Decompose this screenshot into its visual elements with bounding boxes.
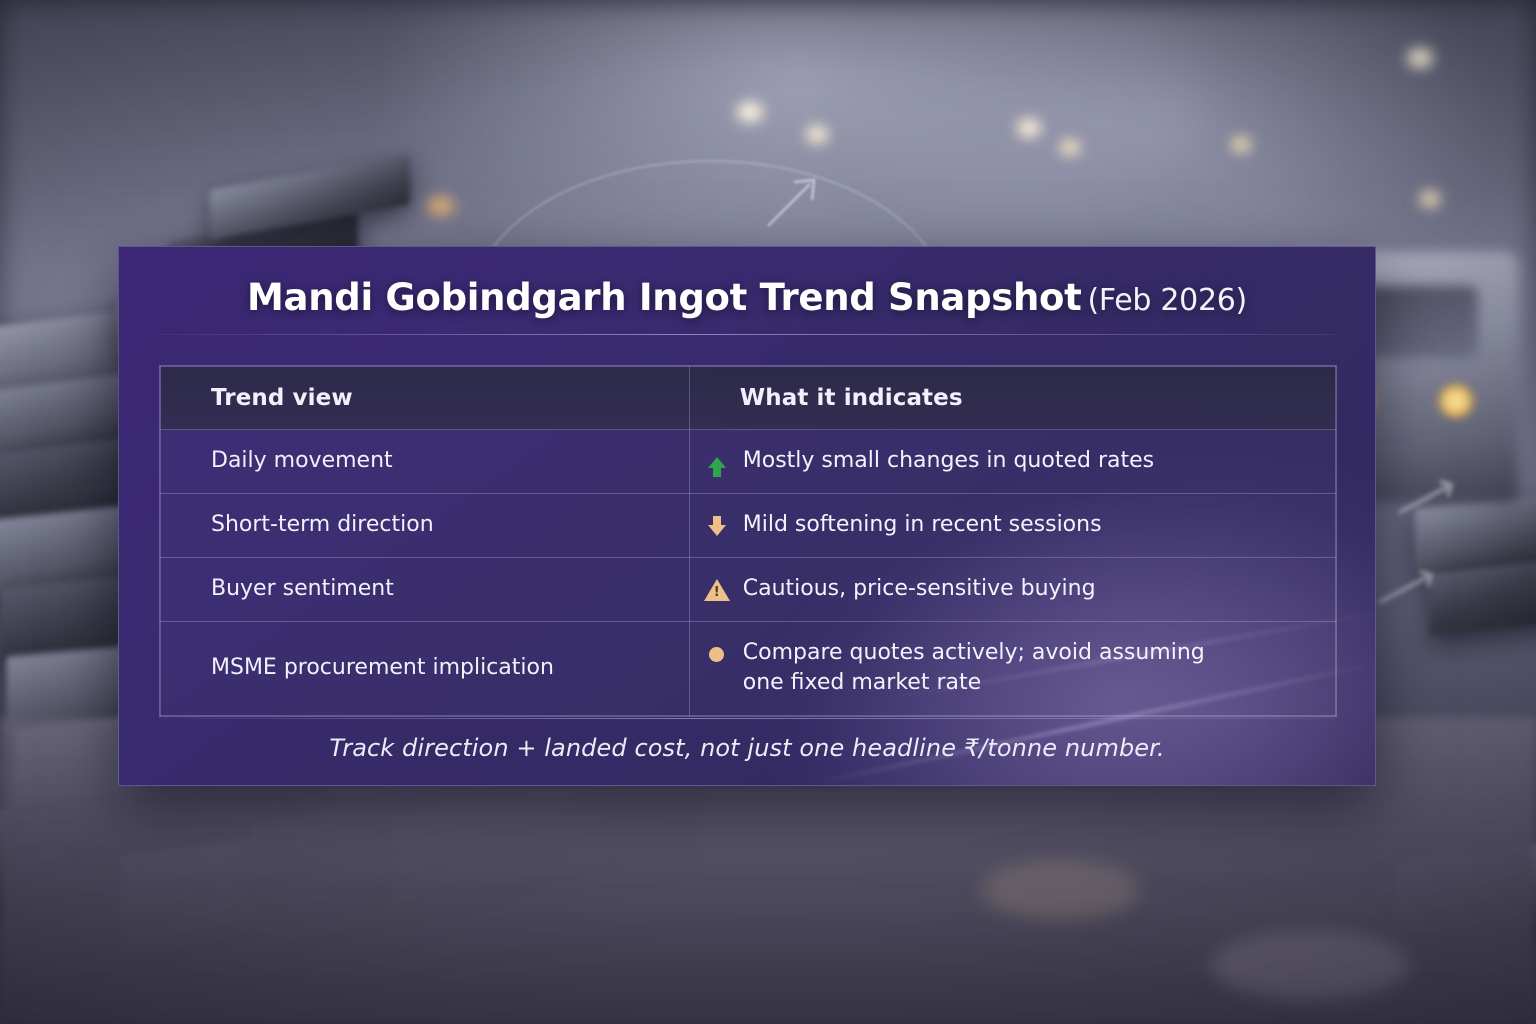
footer-note: Track direction + landed cost, not just … xyxy=(119,734,1375,762)
cell-trend-view: Buyer sentiment xyxy=(161,558,690,622)
trend-snapshot-card: Mandi Gobindgarh Ingot Trend Snapshot(Fe… xyxy=(118,246,1376,786)
warning-triangle-icon xyxy=(704,575,730,605)
cell-indicates: Cautious, price-sensitive buying xyxy=(689,558,1335,622)
bullet-dot-icon xyxy=(704,639,730,669)
page-title: Mandi Gobindgarh Ingot Trend Snapshot(Fe… xyxy=(247,277,1247,320)
indicator-text: Compare quotes actively; avoid assuming … xyxy=(743,638,1213,699)
indicator-group: Compare quotes actively; avoid assuming … xyxy=(704,638,1335,699)
column-header-trend-view: Trend view xyxy=(161,367,690,430)
title-divider xyxy=(159,334,1335,335)
arrow-down-icon xyxy=(704,511,730,541)
arrow-up-icon xyxy=(704,447,730,477)
table-header-row: Trend view What it indicates xyxy=(161,367,1336,430)
indicator-text: Mostly small changes in quoted rates xyxy=(743,446,1154,476)
footer-divider xyxy=(159,718,1335,719)
indicator-group: Mostly small changes in quoted rates xyxy=(704,446,1335,477)
page-title-period: (Feb 2026) xyxy=(1088,283,1247,318)
table-row: Buyer sentiment Cautious, price-sensitiv… xyxy=(161,558,1336,622)
indicator-group: Cautious, price-sensitive buying xyxy=(704,574,1335,605)
card-header: Mandi Gobindgarh Ingot Trend Snapshot(Fe… xyxy=(119,247,1375,320)
cell-trend-view: Daily movement xyxy=(161,430,690,494)
indicator-text: Mild softening in recent sessions xyxy=(743,510,1102,540)
cell-trend-view: Short-term direction xyxy=(161,494,690,558)
table-body: Daily movement Mostly small changes in q… xyxy=(161,430,1336,716)
column-header-what-it-indicates: What it indicates xyxy=(689,367,1335,430)
cell-indicates: Mostly small changes in quoted rates xyxy=(689,430,1335,494)
cell-indicates: Compare quotes actively; avoid assuming … xyxy=(689,622,1335,716)
table-row: MSME procurement implication Compare quo… xyxy=(161,622,1336,716)
page-title-main: Mandi Gobindgarh Ingot Trend Snapshot xyxy=(247,276,1082,319)
cell-trend-view: MSME procurement implication xyxy=(161,622,690,716)
trend-table-wrapper: Trend view What it indicates Daily movem… xyxy=(159,365,1337,717)
table-head: Trend view What it indicates xyxy=(161,367,1336,430)
table-row: Short-term direction Mild softening in r… xyxy=(161,494,1336,558)
cell-indicates: Mild softening in recent sessions xyxy=(689,494,1335,558)
indicator-text: Cautious, price-sensitive buying xyxy=(743,574,1096,604)
indicator-group: Mild softening in recent sessions xyxy=(704,510,1335,541)
trend-table: Trend view What it indicates Daily movem… xyxy=(160,366,1336,716)
table-row: Daily movement Mostly small changes in q… xyxy=(161,430,1336,494)
